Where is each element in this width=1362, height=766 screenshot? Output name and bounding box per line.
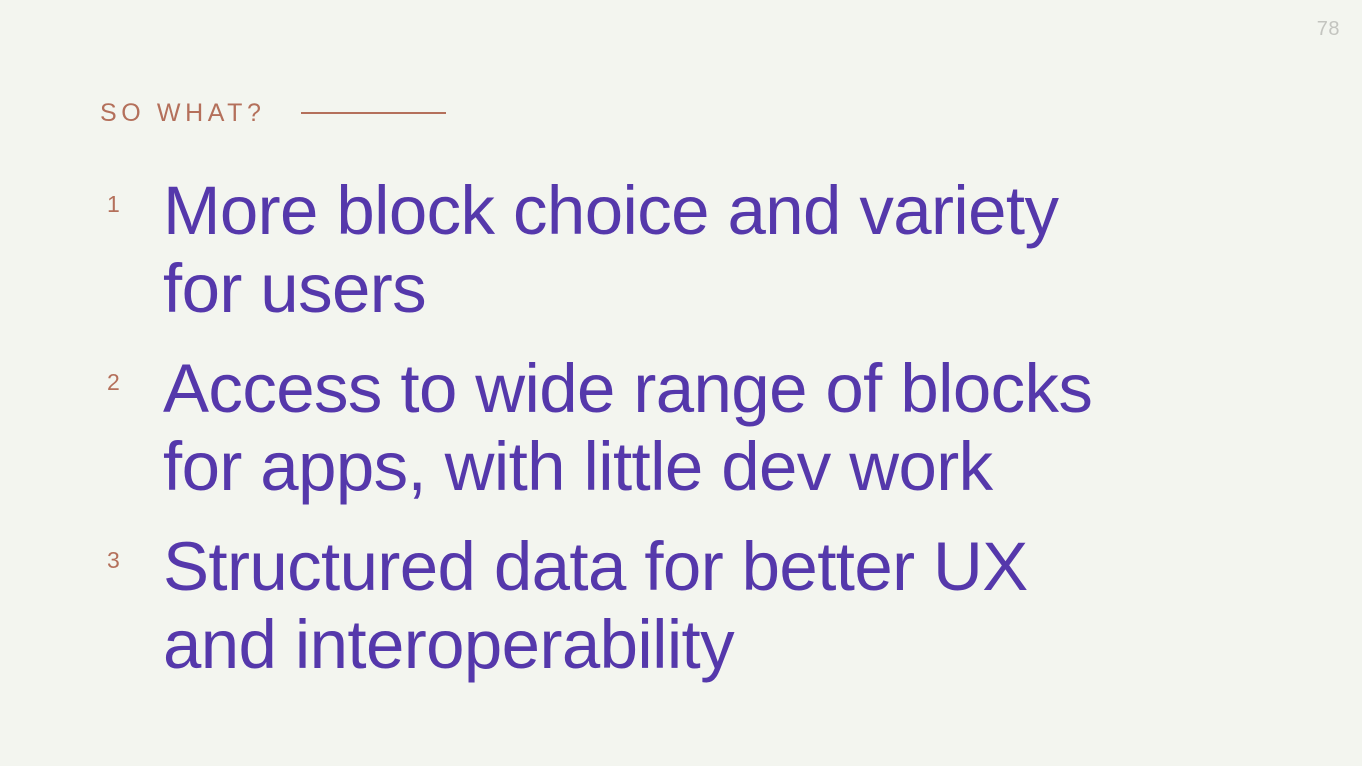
list-item-text: Structured data for better UX and intero…: [163, 528, 1300, 684]
eyebrow-label: SO WHAT?: [100, 101, 266, 126]
eyebrow: SO WHAT?: [100, 96, 446, 130]
list-item-text: Access to wide range of blocks for apps,…: [163, 350, 1300, 506]
numbered-points-list: 1 More block choice and variety for user…: [100, 172, 1300, 684]
list-item-text: More block choice and variety for users: [163, 172, 1300, 328]
list-item: 2 Access to wide range of blocks for app…: [100, 350, 1300, 506]
list-item-number: 2: [107, 371, 120, 394]
list-item-number: 3: [107, 549, 120, 572]
list-item-number: 1: [107, 193, 120, 216]
page-number: 78: [1317, 19, 1340, 39]
eyebrow-rule-divider: [301, 112, 446, 114]
list-item: 3 Structured data for better UX and inte…: [100, 528, 1300, 684]
slide-root: 78 SO WHAT? 1 More block choice and vari…: [0, 0, 1362, 766]
list-item: 1 More block choice and variety for user…: [100, 172, 1300, 328]
